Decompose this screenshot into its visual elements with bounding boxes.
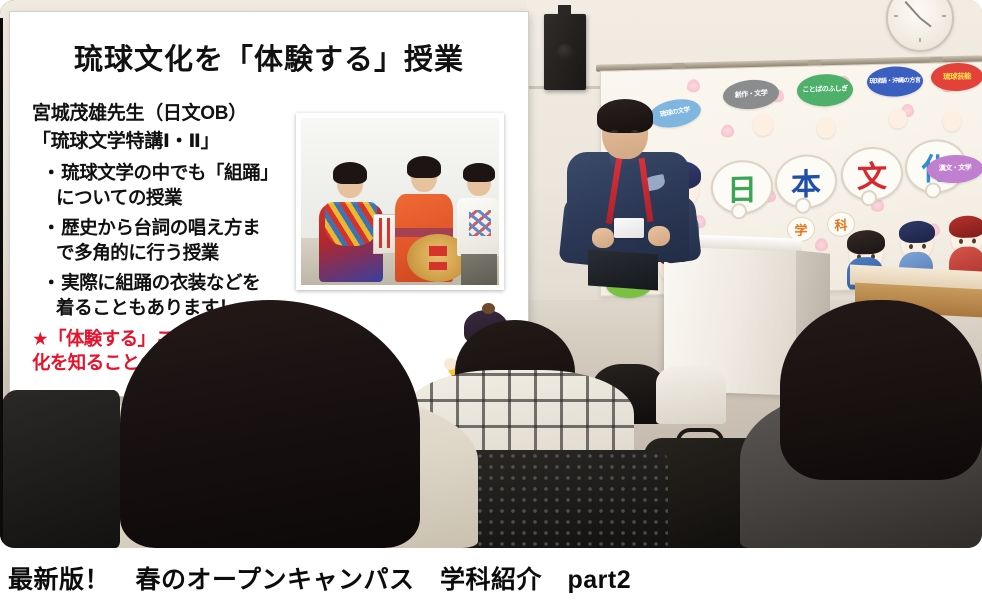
presenter-hand-right xyxy=(648,226,670,246)
slide-title: 琉球文化を「体験する」授業 xyxy=(10,36,528,78)
slide-bullet-list: ・琉球文学の中でも「組踊」 についての授業 ・歴史から台詞の唱え方ま で多角的に… xyxy=(32,161,297,321)
bullet-text-1: 歴史から台詞の唱え方ま xyxy=(61,217,260,238)
photo-person-1-pattern xyxy=(325,202,377,246)
whiteboard-subtitle-text: 科 xyxy=(834,215,847,234)
whiteboard-bubble: 漢文・文学 xyxy=(927,154,982,183)
presenter-laptop xyxy=(588,250,658,291)
photo-person-3-hair xyxy=(463,163,495,182)
whiteboard-bubble-label: 創作・文学 xyxy=(735,90,768,100)
whiteboard-bubble: 琉球の文学 xyxy=(647,95,703,131)
whiteboard-subtitle-text: 学 xyxy=(794,220,807,239)
whiteboard-kanji: 本 xyxy=(775,154,837,210)
audience-member-hair-right xyxy=(780,300,982,480)
whiteboard-bubble: 琉球芸能 xyxy=(931,62,982,91)
presenter-hand-left xyxy=(592,228,614,248)
slide-bullet-item: ・琉球文学の中でも「組踊」 についての授業 xyxy=(42,161,297,210)
chair-left xyxy=(0,390,120,548)
speaker-cone xyxy=(557,44,573,60)
whiteboard-subtitle-char: 科 xyxy=(827,211,855,237)
slide-bullet-item: ・歴史から台詞の唱え方ま で多角的に行う授業 xyxy=(42,216,297,265)
students-in-ryukyuan-costume-photo xyxy=(296,113,504,290)
whiteboard-bubble: 創作・文学 xyxy=(722,78,779,111)
photo-person-1-hair xyxy=(333,162,367,184)
thumbnail-left-edge xyxy=(0,18,3,548)
whiteboard-kanji-char: 文 xyxy=(857,152,887,197)
bullet-text-1: 琉球文学の中でも「組踊」 xyxy=(61,162,278,183)
presenter-name-badge xyxy=(614,218,644,238)
whiteboard-bubble-label: 漢文・文学 xyxy=(939,165,972,173)
cartoon-head-icon xyxy=(817,118,835,138)
photo-content xyxy=(301,118,499,285)
photo-person-3-print xyxy=(469,210,491,236)
whiteboard-kanji: 文 xyxy=(841,146,903,202)
bullet-mark: ・ xyxy=(42,162,60,183)
cartoon-head-icon xyxy=(753,113,773,135)
bullet-mark: ・ xyxy=(42,272,60,293)
photo-person-3-pants xyxy=(461,254,497,286)
whiteboard-bubble-label: 琉球語・沖縄の方言 xyxy=(869,78,920,86)
whiteboard-kanji-char: 日 xyxy=(727,165,757,210)
whiteboard-kanji: 日 xyxy=(711,159,773,215)
video-caption[interactable]: 最新版！ 春のオープンキャンパス 学科紹介 part2 xyxy=(8,560,968,596)
bullet-text-1: 実際に組踊の衣装などを xyxy=(61,272,260,293)
whiteboard-bubble-label: ことばのふしぎ xyxy=(802,86,848,94)
video-thumbnail[interactable]: 琉球の文学 創作・文学 ことばのふしぎ 琉球語・沖縄の方言 琉球芸能 古典文学 … xyxy=(0,0,982,548)
slide-lead-line-2: 「琉球文学特講Ⅰ・Ⅱ」 xyxy=(32,128,297,156)
slide-lead-line-1: 宮城茂雄先生（日文OB） xyxy=(32,100,297,128)
whiteboard-bubble: 琉球語・沖縄の方言 xyxy=(867,66,923,97)
audience-member-back xyxy=(656,366,726,424)
photo-person-2-hair xyxy=(407,156,441,178)
presenter-hair xyxy=(597,99,653,133)
whiteboard-bubble: ことばのふしぎ xyxy=(797,74,853,107)
whiteboard-bubble-label: 琉球の文学 xyxy=(660,107,691,119)
mascot-hair-bun xyxy=(482,303,495,314)
cartoon-head-icon xyxy=(889,108,907,128)
bullet-text-2: で多角的に行う授業 xyxy=(42,241,297,266)
cartoon-head-icon xyxy=(943,111,961,131)
bullet-text-2: についての授業 xyxy=(42,186,297,211)
ceiling-speaker-icon xyxy=(544,14,586,90)
presenter-eye-right xyxy=(631,130,638,133)
photo-prop-hat-mark xyxy=(429,246,447,256)
audience-member-hair xyxy=(120,300,420,548)
photo-prop-hat-mark xyxy=(429,262,447,270)
whiteboard-kanji-char: 本 xyxy=(791,159,821,204)
presenter-eye-left xyxy=(611,130,618,133)
photo-prop-stripe xyxy=(379,218,382,248)
bullet-mark: ・ xyxy=(42,217,60,238)
whiteboard-bubble-label: 琉球芸能 xyxy=(943,73,971,82)
photo-prop-stripe xyxy=(387,218,390,248)
